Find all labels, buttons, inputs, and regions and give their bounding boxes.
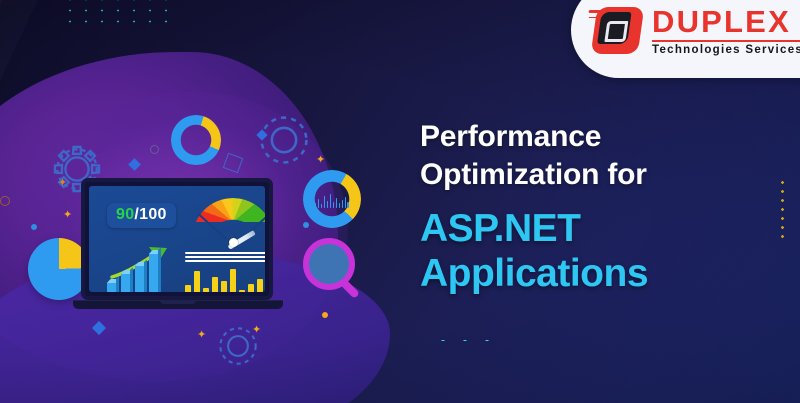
score-badge: 90/100 — [107, 203, 176, 228]
sparkle-decor-5: ✦ — [197, 330, 206, 341]
activity-bar — [230, 269, 236, 292]
headline-accent-2: Applications — [420, 251, 790, 296]
headline-line-1: Performance — [420, 118, 790, 156]
headline-block: Performance Optimization for ASP.NET App… — [420, 118, 790, 297]
laptop-screen: 90/100 — [89, 186, 265, 292]
score-total: /100 — [134, 206, 166, 223]
headline-line-2: Optimization for — [420, 156, 790, 194]
dot-grid-top-left — [62, 0, 174, 28]
logo-divider — [652, 40, 800, 42]
headline-accent-1: ASP.NET — [420, 206, 790, 251]
laptop-illustration: 90/100 — [73, 178, 283, 326]
growth-chart — [107, 244, 177, 292]
dot-decor — [31, 224, 37, 230]
growth-bar — [121, 273, 130, 292]
performance-gauge — [192, 198, 265, 246]
magnifying-glass-icon — [303, 238, 365, 306]
growth-bar — [135, 265, 144, 292]
activity-bar-chart — [185, 266, 265, 292]
sparkle-decor-2: ✦ — [316, 155, 325, 166]
sparkle-decor-3: ✦ — [58, 178, 67, 189]
gauge-needle-hub — [229, 238, 238, 247]
laptop-lid: 90/100 — [81, 178, 273, 300]
logo-text-block: DUPLEX Technologies Services TM — [652, 4, 800, 57]
dot-decor-3 — [322, 312, 328, 318]
logo-speed-lines — [588, 10, 600, 13]
duplex-d-mark-icon — [591, 7, 645, 54]
circle-outline-decor — [0, 196, 10, 206]
donut-sparkline — [315, 192, 349, 208]
dot-grid-bottom-center — [432, 336, 492, 344]
activity-bar — [239, 290, 245, 292]
logo-inner-shape — [597, 12, 631, 44]
activity-bar — [221, 281, 227, 292]
dot-decor-2 — [303, 222, 309, 228]
activity-bar — [248, 284, 254, 292]
promo-banner: ✦ ✦ ✦ ✦ ✦ 90/100 — [0, 0, 800, 403]
logo-tagline: Technologies Services — [652, 45, 800, 57]
activity-bar — [185, 285, 191, 292]
activity-bar — [194, 271, 200, 292]
magnifier-ring — [303, 238, 355, 290]
logo-plate[interactable]: DUPLEX Technologies Services TM — [571, 0, 800, 78]
sparkle-decor-4: ✦ — [252, 325, 261, 336]
logo-wordmark: DUPLEX — [652, 6, 800, 37]
growth-bar — [107, 282, 116, 292]
donut-chart-icon — [171, 115, 221, 165]
circle-outline-decor-2 — [150, 145, 159, 154]
metric-rule-lines — [185, 252, 265, 264]
activity-bar — [257, 279, 263, 292]
activity-bar — [212, 277, 218, 292]
laptop-notch — [160, 300, 196, 304]
growth-bar — [149, 253, 158, 292]
growth-bars — [107, 253, 158, 292]
score-value: 90 — [116, 206, 134, 223]
sparkle-decor: ✦ — [63, 210, 72, 221]
activity-bar — [203, 288, 209, 292]
